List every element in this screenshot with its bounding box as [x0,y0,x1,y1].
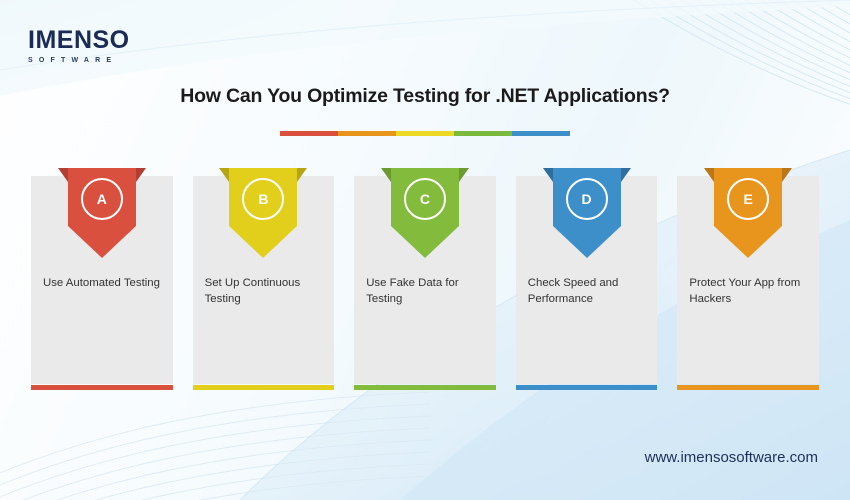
divider-segment-1 [280,131,338,136]
divider-segment-2 [338,131,396,136]
infographic-canvas: IMENSO SOFTWARE How Can You Optimize Tes… [0,0,850,500]
ribbon-letter: B [219,192,307,206]
card-item[interactable]: B Set Up Continuous Testing [193,176,335,384]
divider-segment-4 [454,131,512,136]
ribbon-letter: A [58,192,146,206]
ribbon-badge-icon: A [58,168,146,258]
card-label: Set Up Continuous Testing [193,276,335,307]
card-item[interactable]: C Use Fake Data for Testing [354,176,496,384]
ribbon-letter: C [381,192,469,206]
card-label: Protect Your App from Hackers [677,276,819,307]
card-label: Check Speed and Performance [516,276,658,307]
ribbon-badge-icon: C [381,168,469,258]
card-accent-bar [516,385,658,390]
color-divider [280,131,570,136]
ribbon-badge-icon: D [543,168,631,258]
brand-logo-subtitle: SOFTWARE [28,57,238,64]
page-title: How Can You Optimize Testing for .NET Ap… [0,85,850,108]
card-item[interactable]: A Use Automated Testing [31,176,173,384]
ribbon-badge-icon: B [219,168,307,258]
divider-segment-3 [396,131,454,136]
card-label: Use Automated Testing [31,276,173,292]
card-accent-bar [677,385,819,390]
brand-logo-wordmark: IMENSO [28,28,238,53]
ribbon-badge-icon: E [704,168,792,258]
ribbon-letter: D [543,192,631,206]
card-accent-bar [354,385,496,390]
brand-logo: IMENSO SOFTWARE [28,28,238,64]
divider-segment-5 [512,131,570,136]
card-label: Use Fake Data for Testing [354,276,496,307]
card-list: A Use Automated Testing B Set Up Continu… [31,176,819,384]
card-item[interactable]: D Check Speed and Performance [516,176,658,384]
website-url[interactable]: www.imensosoftware.com [645,449,818,466]
card-item[interactable]: E Protect Your App from Hackers [677,176,819,384]
card-accent-bar [193,385,335,390]
card-accent-bar [31,385,173,390]
ribbon-letter: E [704,192,792,206]
